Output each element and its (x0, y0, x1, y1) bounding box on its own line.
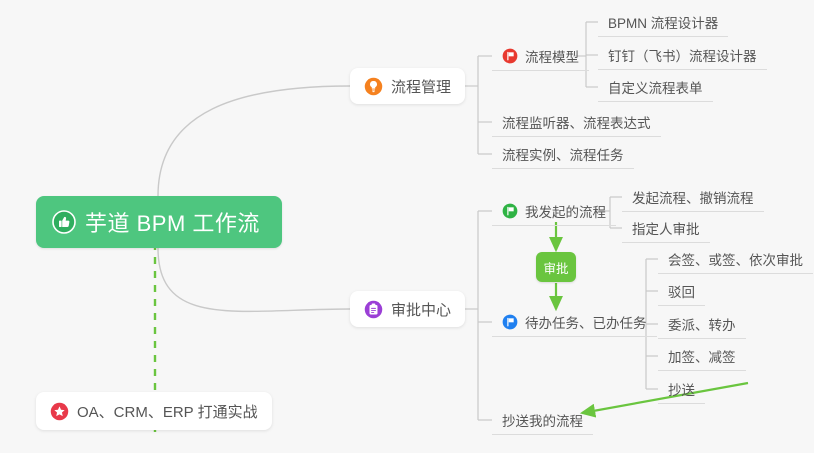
node-label: 流程实例、流程任务 (502, 144, 624, 164)
flag-icon (502, 203, 518, 219)
node-label: 加签、减签 (668, 346, 736, 366)
node-assignee-approval[interactable]: 指定人审批 (622, 213, 710, 243)
branch-label: 流程管理 (391, 76, 451, 97)
node-label: 流程模型 (525, 46, 579, 66)
integration-note-label: OA、CRM、ERP 打通实战 (77, 401, 258, 422)
link-root-to-process-management (158, 86, 350, 196)
node-label: 抄送我的流程 (502, 410, 583, 430)
node-label: 待办任务、已办任务 (525, 312, 647, 332)
link-root-to-approval-center (158, 248, 350, 311)
branch-approval-center[interactable]: 审批中心 (350, 291, 465, 327)
node-cc[interactable]: 抄送 (658, 374, 705, 404)
mindmap-canvas: 芋道 BPM 工作流 流程管理 流程模型 BPMN 流程设计器 钉钉（飞书）流程 (0, 0, 814, 453)
lightbulb-icon (364, 77, 383, 96)
node-dingtalk-designer[interactable]: 钉钉（飞书）流程设计器 (598, 40, 767, 70)
branch-label: 审批中心 (391, 299, 451, 320)
node-label: BPMN 流程设计器 (608, 12, 718, 32)
node-label: 委派、转办 (668, 314, 736, 334)
clipboard-icon (364, 300, 383, 319)
approval-tag-label: 审批 (543, 258, 568, 277)
flag-icon (502, 314, 518, 330)
node-cc-to-me-process[interactable]: 抄送我的流程 (492, 405, 593, 435)
node-process-model[interactable]: 流程模型 (492, 41, 589, 71)
node-label: 指定人审批 (632, 218, 700, 238)
node-add-remove-sign[interactable]: 加签、减签 (658, 341, 746, 371)
node-countersign[interactable]: 会签、或签、依次审批 (658, 244, 813, 274)
node-label: 钉钉（飞书）流程设计器 (608, 45, 757, 65)
node-start-cancel-process[interactable]: 发起流程、撤销流程 (622, 182, 764, 212)
root-label: 芋道 BPM 工作流 (85, 206, 260, 238)
node-delegate-transfer[interactable]: 委派、转办 (658, 309, 746, 339)
node-label: 流程监听器、流程表达式 (502, 112, 651, 132)
node-reject[interactable]: 驳回 (658, 276, 705, 306)
branch-process-management[interactable]: 流程管理 (350, 68, 465, 104)
node-instance-task[interactable]: 流程实例、流程任务 (492, 139, 634, 169)
thumbs-up-icon (52, 210, 76, 234)
node-custom-form[interactable]: 自定义流程表单 (598, 72, 713, 102)
node-todo-done-tasks[interactable]: 待办任务、已办任务 (492, 307, 657, 337)
node-bpmn-designer[interactable]: BPMN 流程设计器 (598, 7, 728, 37)
root-node[interactable]: 芋道 BPM 工作流 (36, 196, 282, 248)
node-label: 驳回 (668, 281, 695, 301)
integration-note[interactable]: OA、CRM、ERP 打通实战 (36, 392, 272, 430)
node-listener-expression[interactable]: 流程监听器、流程表达式 (492, 107, 661, 137)
approval-tag: 审批 (536, 252, 576, 282)
node-label: 我发起的流程 (525, 201, 606, 221)
node-label: 自定义流程表单 (608, 77, 703, 97)
node-my-started-process[interactable]: 我发起的流程 (492, 196, 616, 226)
flag-icon (502, 48, 518, 64)
star-icon (50, 402, 69, 421)
node-label: 抄送 (668, 379, 695, 399)
node-label: 会签、或签、依次审批 (668, 249, 803, 269)
node-label: 发起流程、撤销流程 (632, 187, 754, 207)
